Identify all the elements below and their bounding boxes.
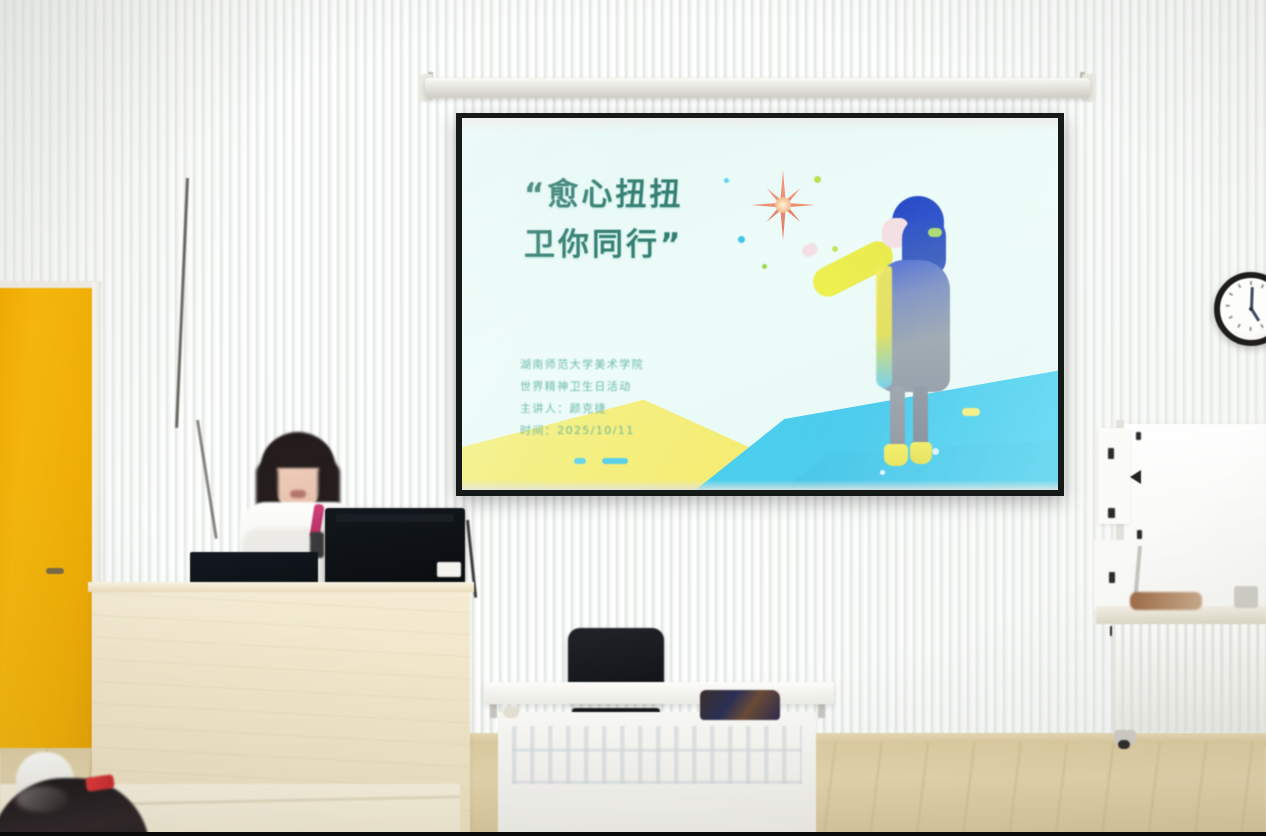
lectern-top-edge	[88, 582, 474, 592]
slide-illustration-figure	[850, 196, 970, 490]
wall-mark-2	[1108, 508, 1115, 518]
side-counter-body	[1112, 624, 1266, 732]
screen-roller-casing[interactable]	[425, 78, 1090, 98]
slide-metadata: 湖南师范大学美术学院 世界精神卫生日活动 主讲人：颜克捷 时间：2025/10/…	[520, 354, 644, 442]
slide-dot-cyan	[738, 236, 745, 243]
slide-title: “愈心扭扭 卫你同行”	[524, 170, 683, 270]
counter-object	[1234, 586, 1258, 608]
classroom-scene: “愈心扭扭 卫你同行” 湖南师范大学美术学院 世界精神卫生日活动 主讲人：颜克捷…	[0, 0, 1266, 836]
slide-dot-stream	[602, 458, 628, 464]
clock-minute-hand	[1250, 287, 1253, 309]
projection-screen: “愈心扭扭 卫你同行” 湖南师范大学美术学院 世界精神卫生日活动 主讲人：颜克捷…	[462, 118, 1058, 490]
small-cup	[503, 706, 519, 718]
slide-dot-cyan-2	[724, 178, 729, 183]
slide-dot-green-3	[762, 264, 767, 269]
sparkle-star-icon	[748, 170, 818, 240]
wall-mark-1	[1108, 448, 1114, 459]
patterned-bag	[700, 690, 780, 720]
slide-dot-green-2	[832, 246, 838, 252]
door-lever-icon[interactable]	[46, 568, 64, 574]
slide-dot-stream-2	[574, 458, 586, 464]
counter-items	[1130, 592, 1202, 610]
wall-mark-6	[1137, 530, 1142, 539]
caster-wheel	[1118, 740, 1130, 749]
frame-bottom-bar	[0, 832, 1266, 836]
monitor-label-sticker	[437, 562, 461, 577]
wall-mark-3	[1109, 572, 1115, 583]
wall-mark-5	[1136, 432, 1141, 440]
white-folding-table	[484, 682, 834, 836]
arrow-marker-icon	[1130, 470, 1141, 484]
yellow-door[interactable]	[0, 288, 100, 748]
